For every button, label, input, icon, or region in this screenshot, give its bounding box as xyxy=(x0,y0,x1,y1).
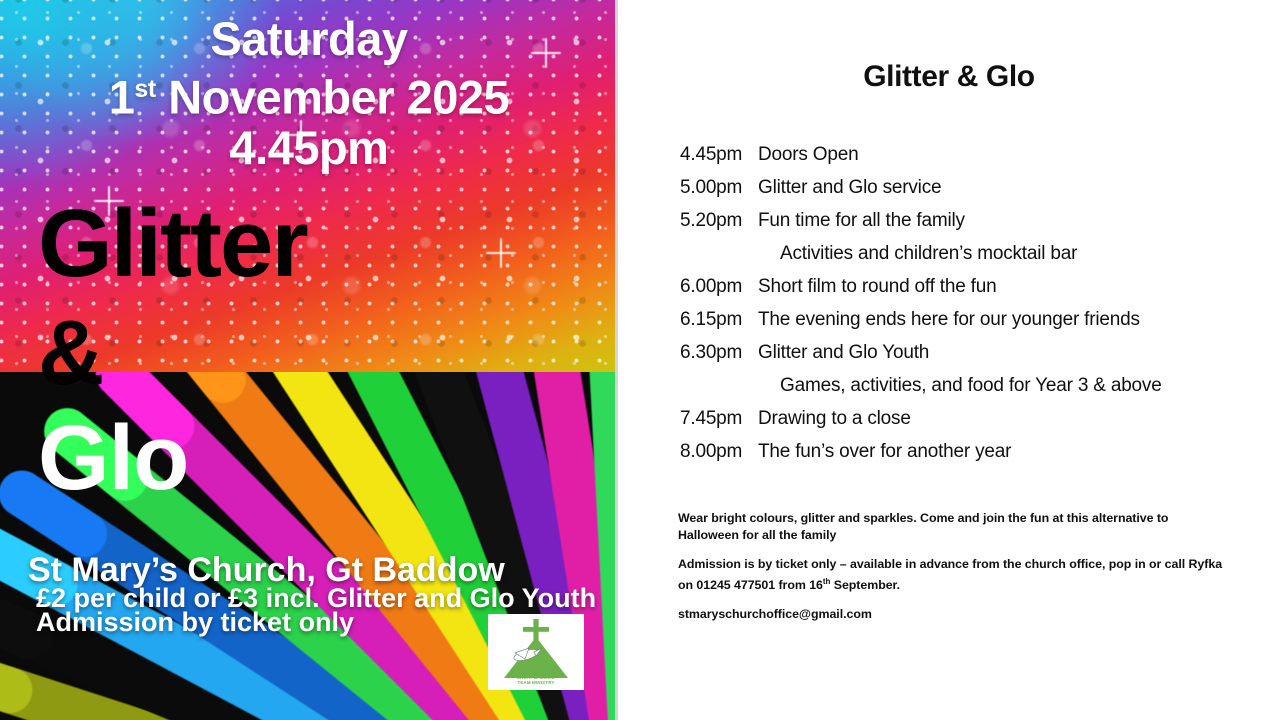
schedule-row: 4.45pmDoors Open xyxy=(680,144,1252,166)
poster-page: Saturday 1st November 2025 4.45pm Glitte… xyxy=(0,0,1280,720)
schedule-description: Glitter and Glo Youth xyxy=(758,342,929,364)
schedule-description: The evening ends here for our younger fr… xyxy=(758,309,1140,331)
poster-title-ampersand: & xyxy=(38,307,104,399)
schedule-time: 5.00pm xyxy=(680,177,758,199)
schedule-description: Games, activities, and food for Year 3 &… xyxy=(758,375,1162,397)
sparkle-star-icon xyxy=(500,238,502,268)
schedule-time: 5.20pm xyxy=(680,210,758,232)
cross-icon xyxy=(533,619,538,645)
great-baddow-team-ministry-logo: GREAT BADDOW TEAM MINISTRY xyxy=(488,614,584,690)
panel-divider xyxy=(615,0,618,720)
admission-note-month: September. xyxy=(830,578,900,592)
poster-title-glitter: Glitter xyxy=(38,196,307,292)
notes-section: Wear bright colours, glitter and sparkle… xyxy=(678,510,1240,635)
poster-date-heading: Saturday 1st November 2025 4.45pm xyxy=(0,14,618,173)
details-panel: Glitter & Glo 4.45pmDoors Open5.00pmGlit… xyxy=(618,0,1280,720)
page-title: Glitter & Glo xyxy=(618,60,1280,94)
schedule-subrow: Activities and children’s mocktail bar xyxy=(680,243,1252,265)
schedule-time: 6.00pm xyxy=(680,276,758,298)
poster-date-day: Saturday xyxy=(0,14,618,64)
schedule-row: 6.15pmThe evening ends here for our youn… xyxy=(680,309,1252,331)
event-poster-image: Saturday 1st November 2025 4.45pm Glitte… xyxy=(0,0,618,720)
poster-admission-note: Admission by ticket only xyxy=(36,607,354,638)
poster-start-time: 4.45pm xyxy=(0,123,618,173)
admission-note-text: Admission is by ticket only – available … xyxy=(678,557,1222,592)
schedule-row: 5.20pmFun time for all the family xyxy=(680,210,1252,232)
schedule-row: 8.00pmThe fun’s over for another year xyxy=(680,441,1252,463)
admission-note: Admission is by ticket only – available … xyxy=(678,556,1230,594)
dress-note: Wear bright colours, glitter and sparkle… xyxy=(678,510,1230,544)
poster-date-month-year: November 2025 xyxy=(156,71,510,124)
schedule-time: 7.45pm xyxy=(680,408,758,430)
schedule-time: 4.45pm xyxy=(680,144,758,166)
schedule-time: 6.15pm xyxy=(680,309,758,331)
schedule-description: Fun time for all the family xyxy=(758,210,965,232)
poster-title-glo: Glo xyxy=(38,412,188,504)
schedule-row: 5.00pmGlitter and Glo service xyxy=(680,177,1252,199)
contact-email[interactable]: stmaryschurchoffice@gmail.com xyxy=(678,606,1230,623)
schedule-description: Short film to round off the fun xyxy=(758,276,996,298)
schedule-description: Doors Open xyxy=(758,144,858,166)
poster-date-number: 1 xyxy=(109,71,135,124)
schedule-subrow: Games, activities, and food for Year 3 &… xyxy=(680,375,1252,397)
schedule-row: 6.00pmShort film to round off the fun xyxy=(680,276,1252,298)
schedule-description: Glitter and Glo service xyxy=(758,177,941,199)
schedule-description: Activities and children’s mocktail bar xyxy=(758,243,1077,265)
poster-date-ordinal-suffix: st xyxy=(134,75,155,103)
schedule-description: Drawing to a close xyxy=(758,408,911,430)
schedule-time: 6.30pm xyxy=(680,342,758,364)
logo-caption-line2: TEAM MINISTRY xyxy=(488,680,584,686)
schedule-time: 8.00pm xyxy=(680,441,758,463)
poster-date-full: 1st November 2025 xyxy=(0,64,618,123)
logo-caption: GREAT BADDOW TEAM MINISTRY xyxy=(488,675,584,686)
schedule-row: 6.30pmGlitter and Glo Youth xyxy=(680,342,1252,364)
schedule-row: 7.45pmDrawing to a close xyxy=(680,408,1252,430)
schedule-description: The fun’s over for another year xyxy=(758,441,1011,463)
schedule-list: 4.45pmDoors Open5.00pmGlitter and Glo se… xyxy=(680,144,1252,474)
cross-icon-bar xyxy=(523,627,549,632)
